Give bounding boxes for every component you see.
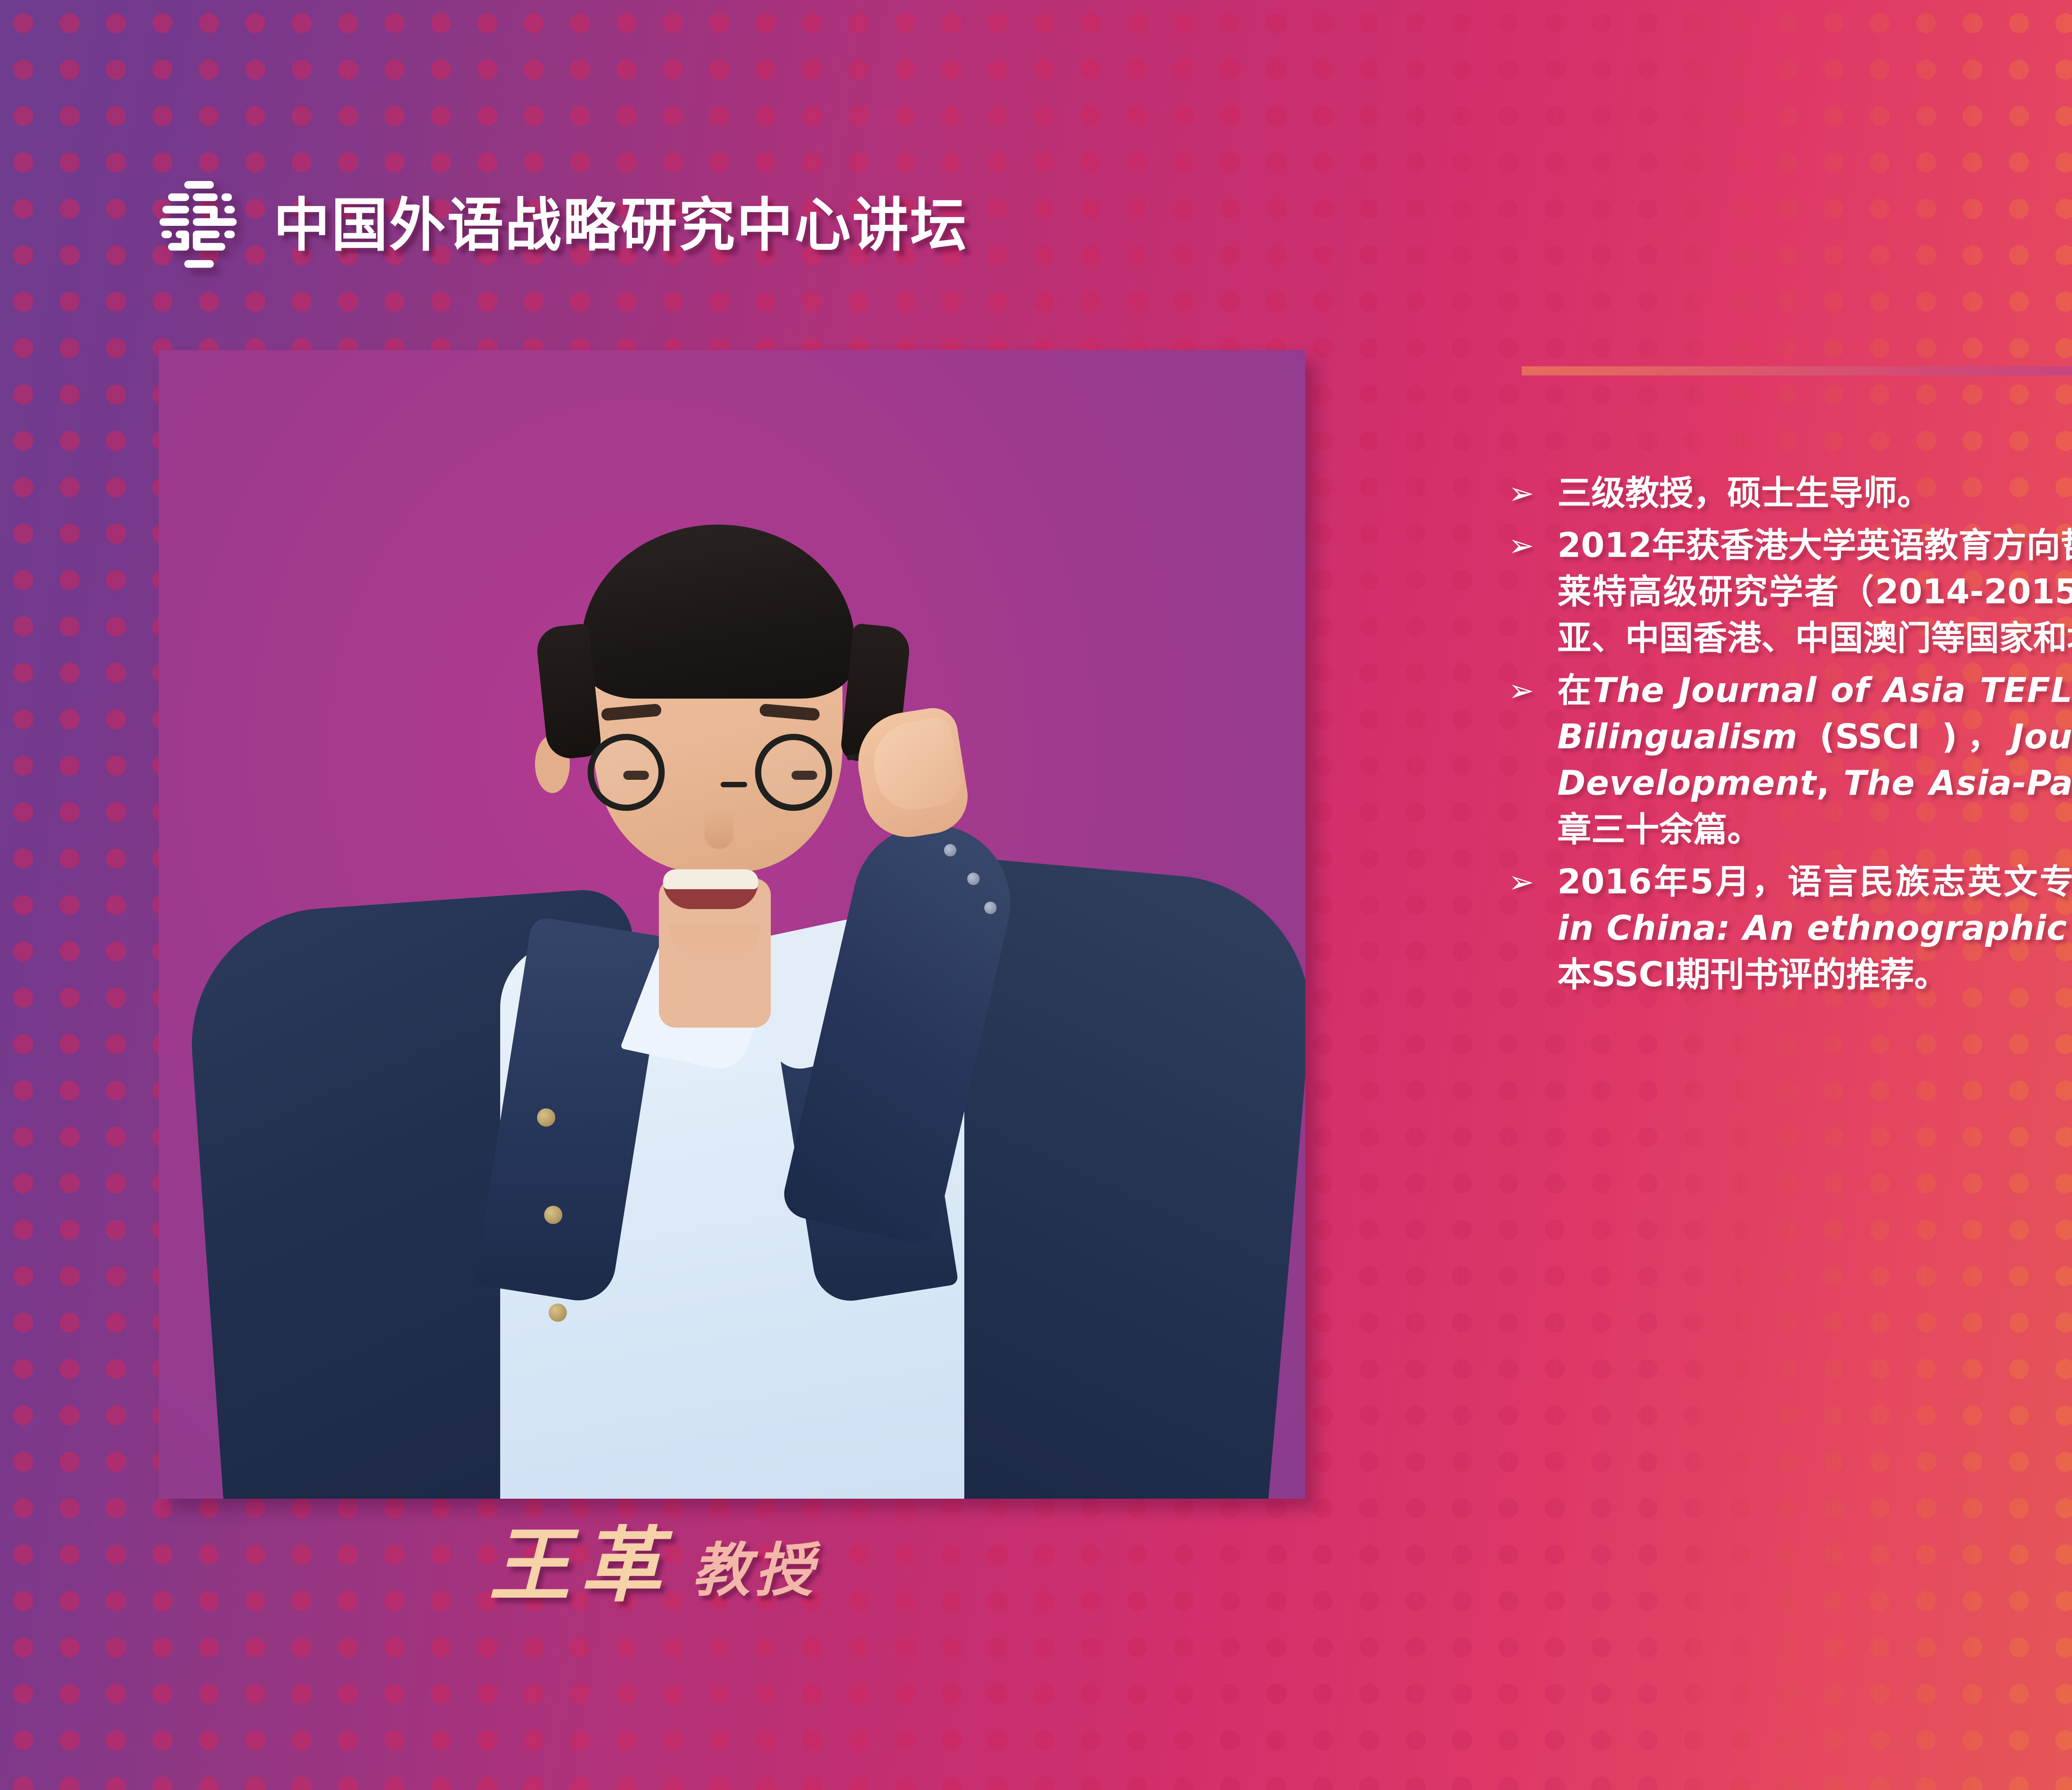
nose [704, 810, 733, 849]
center-emblem-icon [157, 178, 252, 273]
bio-text: 在The Journal of Asia TEFL、International … [1557, 668, 2072, 853]
bullet-arrow-icon: ➢ [1508, 522, 1557, 569]
bullet-arrow-icon: ➢ [1508, 668, 1557, 714]
list-item: ➢ 在The Journal of Asia TEFL、Internationa… [1508, 668, 2072, 853]
speaker-photo [159, 350, 1305, 1499]
slide-canvas: 中国外语战略研究中心讲坛 主讲人简介 [0, 0, 2072, 1790]
brand-title: 中国外语战略研究中心讲坛 [274, 197, 968, 255]
mouth [663, 869, 758, 909]
sleeve-stud-2 [967, 873, 980, 885]
title-divider-rule [1522, 366, 2072, 375]
bio-text: 2016年5月，语言民族志英文专著Pains and gains of ethn… [1557, 859, 2072, 998]
bullet-arrow-icon: ➢ [1508, 470, 1557, 517]
list-item: ➢ 三级教授，硕士生导师。 [1508, 470, 2072, 517]
speaker-name-block: 王革 教授 [489, 1525, 818, 1606]
jacket-button-3 [549, 1304, 567, 1322]
bio-text: 2012年获香港大学英语教育方向哲学博士学位（TESOL），在美国宾夕法尼亚大学… [1557, 522, 2072, 662]
teeth [663, 869, 758, 889]
speaker-bio-list: ➢ 三级教授，硕士生导师。 ➢ 2012年获香港大学英语教育方向哲学博士学位（T… [1508, 470, 2072, 1004]
list-item: ➢ 2012年获香港大学英语教育方向哲学博士学位（TESOL），在美国宾夕法尼亚… [1508, 522, 2072, 662]
jacket-button-2 [544, 1206, 562, 1224]
speaker-role: 教授 [692, 1541, 818, 1606]
bullet-arrow-icon: ➢ [1508, 859, 1557, 905]
bio-text: 三级教授，硕士生导师。 [1557, 470, 2072, 517]
eyeglasses-bridge [721, 782, 747, 787]
portrait-illustration [159, 350, 1305, 1499]
jacket-button-1 [537, 1108, 555, 1127]
speaker-name: 王革 [489, 1525, 671, 1606]
list-item: ➢ 2016年5月，语言民族志英文专著Pains and gains of et… [1508, 859, 2072, 998]
eyeglasses-lens-right [755, 734, 832, 811]
hair [581, 525, 855, 699]
eyeglasses-lens-left [588, 734, 665, 811]
sleeve-stud-3 [984, 902, 997, 914]
brand-header: 中国外语战略研究中心讲坛 [157, 178, 990, 273]
